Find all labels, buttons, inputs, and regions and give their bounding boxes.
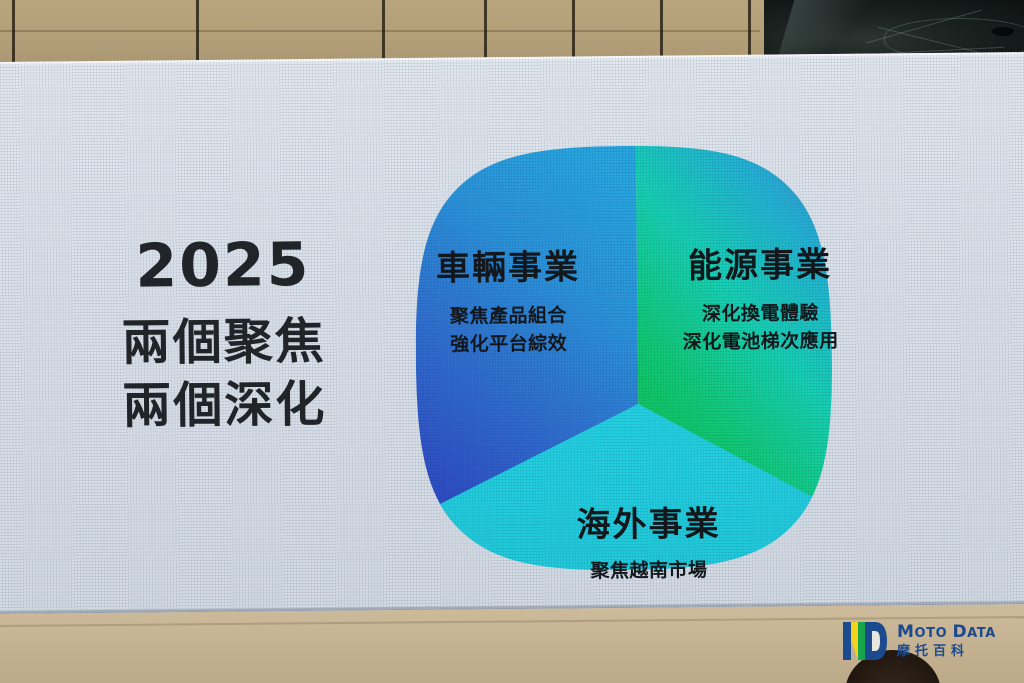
- brand-d: D: [952, 622, 967, 642]
- label-overseas-sub-1: 聚焦越南市場: [519, 556, 779, 586]
- led-screen: 2025 兩個聚焦 兩個深化: [0, 52, 1024, 614]
- watermark-text: MOTO DATA 摩托百科: [897, 624, 996, 658]
- glass-streak: [878, 27, 985, 55]
- brand-m: M: [897, 622, 915, 642]
- wall-seam: [0, 30, 760, 32]
- slide-headline: 2025 兩個聚焦 兩個深化: [88, 235, 360, 446]
- label-vehicle-sub-1: 聚焦產品組合: [396, 302, 620, 332]
- label-energy-sub-1: 深化換電體驗: [642, 300, 878, 330]
- watermark-brand-en: MOTO DATA: [897, 624, 996, 642]
- label-vehicle: 車輛事業 聚焦產品組合 強化平台綜效: [396, 239, 621, 359]
- photo-scene: 2025 兩個聚焦 兩個深化: [0, 0, 1024, 683]
- label-energy: 能源事業 深化換電體驗 深化電池梯次應用: [642, 237, 879, 357]
- label-vehicle-sub-2: 強化平台綜效: [397, 330, 621, 360]
- brand-ata: ATA: [967, 626, 996, 641]
- label-energy-sub-2: 深化電池梯次應用: [643, 327, 879, 357]
- moto-data-watermark: MOTO DATA 摩托百科: [842, 620, 996, 662]
- label-overseas: 海外事業 聚焦越南市場: [518, 495, 779, 586]
- headline-line-2: 兩個深化: [89, 380, 359, 432]
- label-energy-title: 能源事業: [642, 237, 878, 288]
- label-overseas-title: 海外事業: [518, 495, 778, 546]
- glass-dark-spot: [992, 27, 1014, 36]
- label-vehicle-title: 車輛事業: [396, 239, 620, 290]
- glass-streak: [866, 9, 982, 43]
- headline-line-1: 兩個聚焦: [88, 317, 358, 369]
- headline-year: 2025: [88, 235, 359, 298]
- watermark-brand-cn: 摩托百科: [897, 645, 996, 659]
- md-monogram-icon: [842, 620, 888, 662]
- brand-oto: OTO: [915, 626, 953, 641]
